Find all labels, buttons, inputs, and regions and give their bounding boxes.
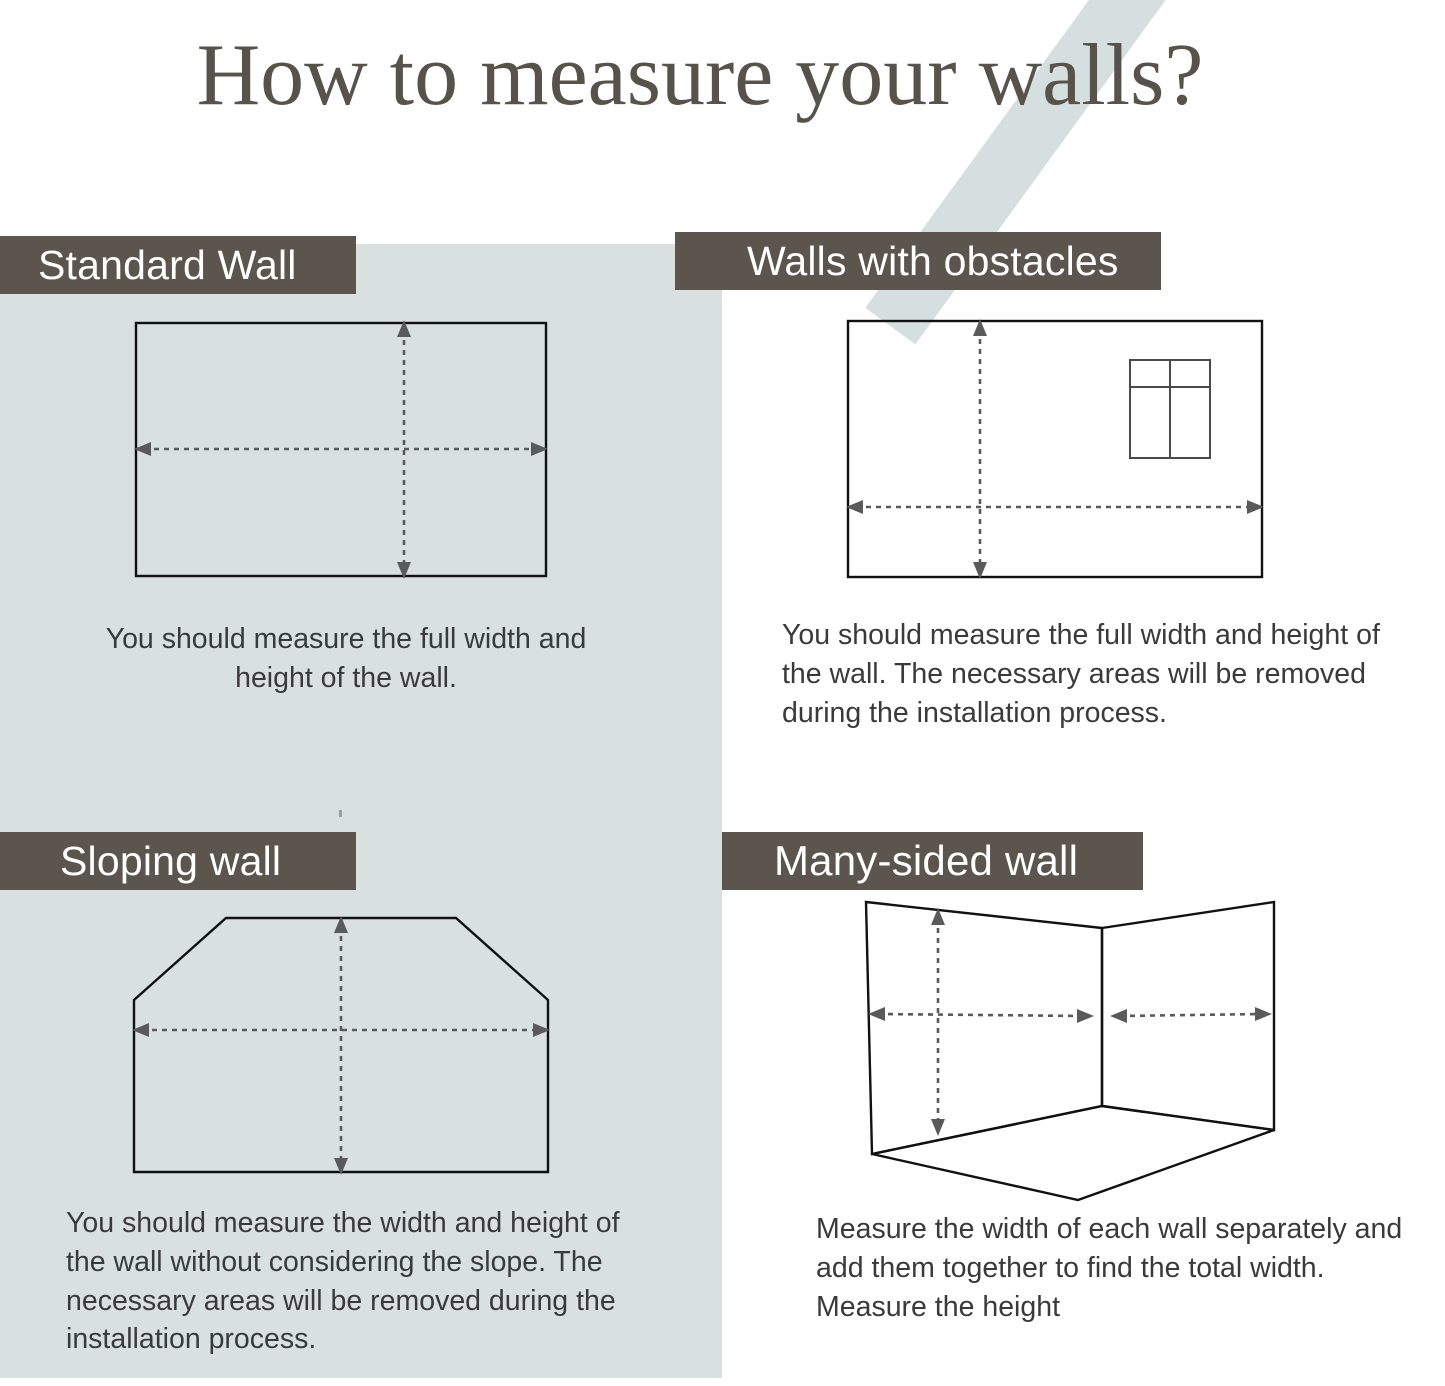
left-wall-width-arrow xyxy=(868,1007,1094,1023)
caption-sloping-wall: You should measure the width and height … xyxy=(66,1204,656,1359)
left-wall-height-arrow xyxy=(931,908,945,1136)
section-header-standard-wall: Standard Wall xyxy=(0,236,356,294)
section-header-label: Walls with obstacles xyxy=(747,241,1119,282)
section-header-many-sided-wall: Many-sided wall xyxy=(722,832,1143,890)
right-wall-width-arrow xyxy=(1110,1007,1272,1023)
section-header-label: Sloping wall xyxy=(60,841,281,882)
caption-walls-with-obstacles: You should measure the full width and he… xyxy=(782,616,1412,732)
height-measure-arrow xyxy=(973,319,987,579)
height-measure-arrow xyxy=(334,916,348,1175)
window-obstacle-icon xyxy=(1130,360,1210,458)
caption-standard-wall: You should measure the full width and he… xyxy=(96,620,596,698)
section-header-walls-with-obstacles: Walls with obstacles xyxy=(675,232,1161,290)
diagram-standard-wall xyxy=(120,305,566,595)
section-header-label: Many-sided wall xyxy=(774,840,1078,882)
diagram-walls-with-obstacles xyxy=(834,305,1284,595)
diagram-sloping-wall xyxy=(118,900,564,1195)
width-measure-arrow xyxy=(846,500,1264,514)
page-title: How to measure your walls? xyxy=(0,30,1400,122)
left-wall-face xyxy=(866,902,1102,1154)
stray-artifact-dot xyxy=(339,810,342,817)
right-wall-face xyxy=(1102,902,1274,1130)
diagram-many-sided-wall xyxy=(850,888,1290,1213)
section-header-label: Standard Wall xyxy=(38,245,297,286)
caption-many-sided-wall: Measure the width of each wall separatel… xyxy=(816,1210,1416,1326)
width-measure-arrow xyxy=(134,442,548,456)
section-header-sloping-wall: Sloping wall xyxy=(0,832,356,890)
infographic-root: How to measure your walls? Standard Wall… xyxy=(0,0,1445,1386)
